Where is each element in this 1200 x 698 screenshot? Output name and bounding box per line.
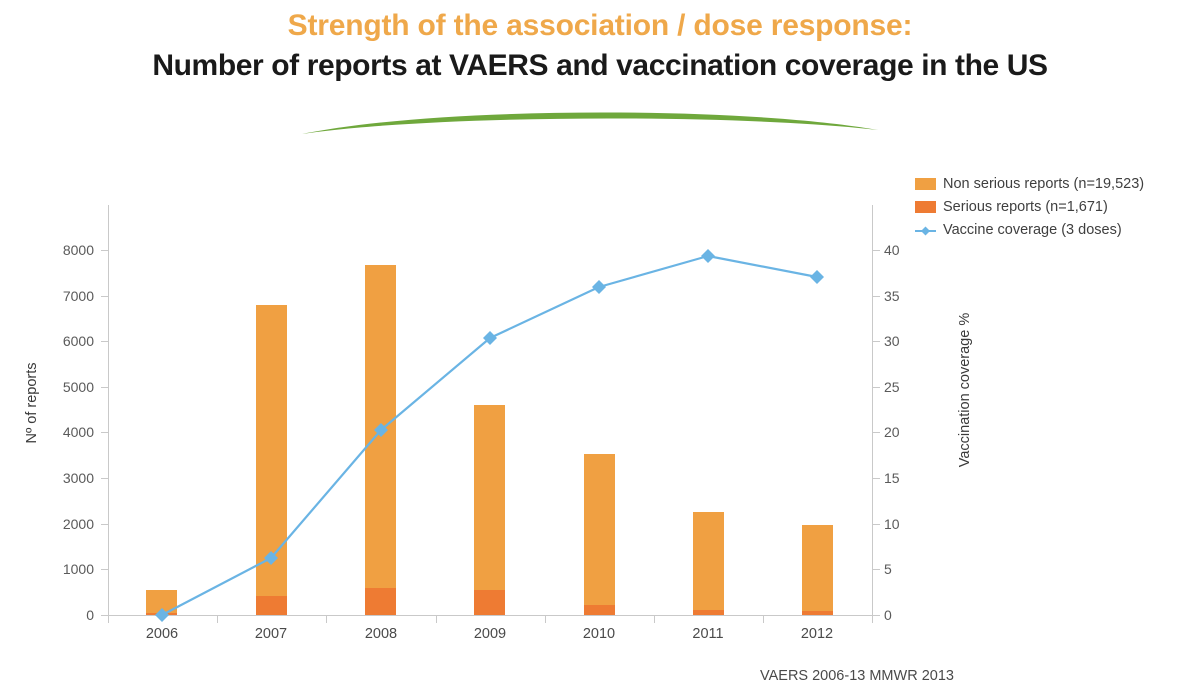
y-tick-left-3000 (101, 478, 108, 479)
y-tick-left-5000 (101, 387, 108, 388)
bar-2008-non-serious (365, 265, 396, 588)
bar-2006-non-serious (146, 590, 177, 613)
y-label-left-7000: 7000 (34, 288, 94, 304)
bar-2007[interactable] (256, 305, 287, 615)
bar-2008[interactable] (365, 265, 396, 615)
y-label-left-4000: 4000 (34, 424, 94, 440)
y-label-right-35: 35 (884, 288, 924, 304)
page-title-accent: Strength of the association / dose respo… (0, 6, 1200, 46)
legend-label-vaccine-coverage: Vaccine coverage (3 doses) (943, 222, 1122, 238)
x-axis-line (108, 615, 873, 616)
bar-2010[interactable] (584, 454, 615, 615)
x-label-2008: 2008 (336, 626, 426, 642)
y-label-right-0: 0 (884, 607, 924, 623)
y-label-left-2000: 2000 (34, 516, 94, 532)
y-label-right-15: 15 (884, 470, 924, 486)
legend-swatch-non-serious-icon (915, 178, 936, 190)
y-axis-left-title: Nº of reports (24, 323, 40, 483)
legend-label-non-serious: Non serious reports (n=19,523) (943, 176, 1144, 192)
legend-item-serious[interactable]: Serious reports (n=1,671) (915, 195, 1144, 218)
bar-2012-serious (802, 611, 833, 615)
legend-item-non-serious[interactable]: Non serious reports (n=19,523) (915, 172, 1144, 195)
bar-2007-non-serious (256, 305, 287, 596)
x-label-2010: 2010 (554, 626, 644, 642)
bar-2011-non-serious (693, 512, 724, 610)
legend-diamond-line-icon (915, 224, 936, 236)
x-tick-0 (108, 616, 109, 623)
y-tick-left-2000 (101, 524, 108, 525)
legend-swatch-serious-icon (915, 201, 936, 213)
bar-2010-non-serious (584, 454, 615, 605)
x-label-2007: 2007 (226, 626, 316, 642)
chart-legend: Non serious reports (n=19,523) Serious r… (915, 172, 1144, 241)
y-tick-right-40 (873, 250, 880, 251)
x-label-2011: 2011 (663, 626, 753, 642)
x-label-2006: 2006 (117, 626, 207, 642)
x-tick-3 (436, 616, 437, 623)
x-tick-4 (545, 616, 546, 623)
y-label-right-10: 10 (884, 516, 924, 532)
bar-2010-serious (584, 605, 615, 615)
y-tick-left-7000 (101, 296, 108, 297)
bar-2011[interactable] (693, 512, 724, 615)
bar-2012-non-serious (802, 525, 833, 611)
legend-item-vaccine-coverage[interactable]: Vaccine coverage (3 doses) (915, 218, 1144, 241)
y-axis-right-line (872, 205, 873, 615)
y-axis-left-line (108, 205, 109, 615)
source-note: VAERS 2006-13 MMWR 2013 (760, 668, 954, 684)
y-label-right-30: 30 (884, 333, 924, 349)
line-marker-2012 (810, 270, 824, 284)
y-tick-right-15 (873, 478, 880, 479)
bar-2009-non-serious (474, 405, 505, 590)
y-label-right-5: 5 (884, 561, 924, 577)
line-marker-2010 (592, 280, 606, 294)
y-label-left-6000: 6000 (34, 333, 94, 349)
x-tick-6 (763, 616, 764, 623)
y-tick-left-4000 (101, 432, 108, 433)
x-tick-7 (872, 616, 873, 623)
x-label-2009: 2009 (445, 626, 535, 642)
y-tick-right-30 (873, 341, 880, 342)
y-tick-left-6000 (101, 341, 108, 342)
y-label-right-20: 20 (884, 424, 924, 440)
x-tick-1 (217, 616, 218, 623)
line-marker-2011 (701, 249, 715, 263)
y-tick-left-8000 (101, 250, 108, 251)
y-label-left-1000: 1000 (34, 561, 94, 577)
y-axis-right-title: Vaccination coverage % (957, 280, 973, 500)
bar-2011-serious (693, 610, 724, 615)
y-tick-right-20 (873, 432, 880, 433)
y-tick-right-0 (873, 615, 880, 616)
bar-2012[interactable] (802, 525, 833, 615)
page-title: Number of reports at VAERS and vaccinati… (0, 46, 1200, 86)
y-tick-right-10 (873, 524, 880, 525)
title-block: Strength of the association / dose respo… (0, 0, 1200, 86)
x-tick-2 (326, 616, 327, 623)
bar-2006[interactable] (146, 590, 177, 615)
y-tick-right-5 (873, 569, 880, 570)
y-tick-left-0 (101, 615, 108, 616)
bar-2009-serious (474, 590, 505, 615)
y-label-left-0: 0 (34, 607, 94, 623)
legend-label-serious: Serious reports (n=1,671) (943, 199, 1108, 215)
green-swoosh-decoration (300, 104, 880, 138)
y-tick-right-35 (873, 296, 880, 297)
bar-2007-serious (256, 596, 287, 615)
y-tick-left-1000 (101, 569, 108, 570)
x-tick-5 (654, 616, 655, 623)
x-label-2012: 2012 (772, 626, 862, 642)
y-label-left-5000: 5000 (34, 379, 94, 395)
bar-2006-serious (146, 613, 177, 615)
y-label-left-3000: 3000 (34, 470, 94, 486)
bar-2008-serious (365, 588, 396, 615)
y-label-left-8000: 8000 (34, 242, 94, 258)
slide-canvas: Strength of the association / dose respo… (0, 0, 1200, 698)
y-label-right-25: 25 (884, 379, 924, 395)
line-marker-2009 (483, 331, 497, 345)
bar-2009[interactable] (474, 405, 505, 615)
y-tick-right-25 (873, 387, 880, 388)
y-label-right-40: 40 (884, 242, 924, 258)
